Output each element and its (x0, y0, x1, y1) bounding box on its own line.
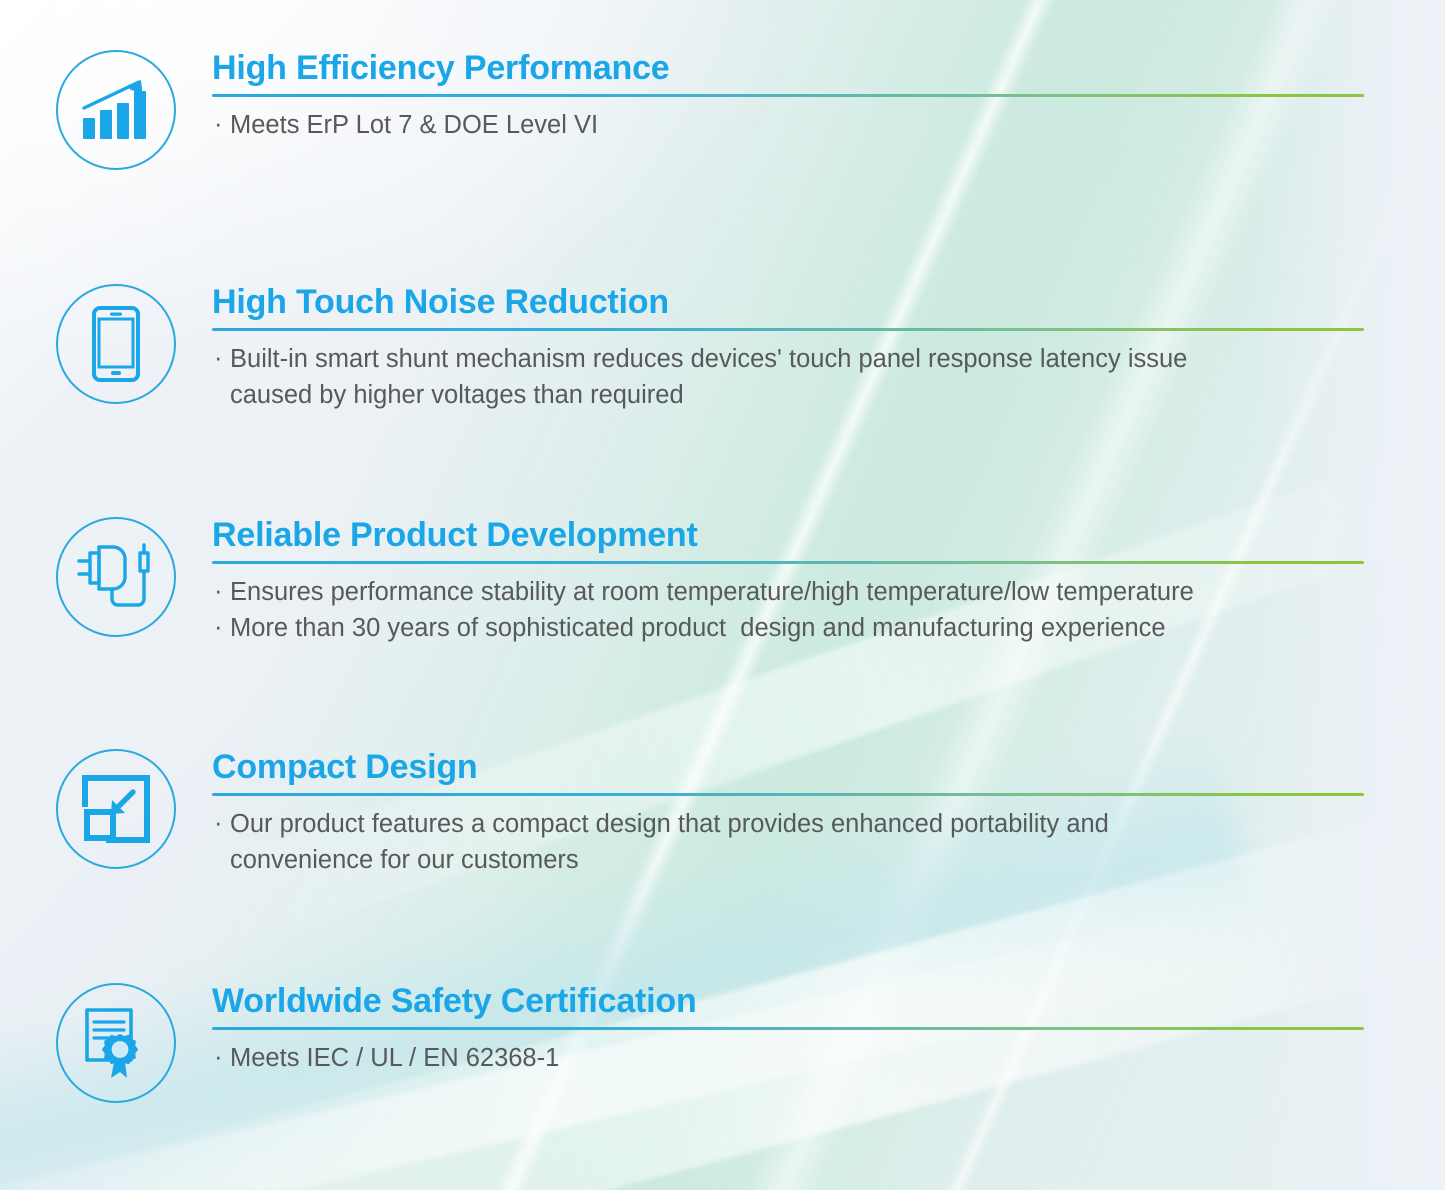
feature-text-block: High Efficiency Performance Meets ErP Lo… (212, 50, 1367, 144)
feature-text-block: Compact Design Our product features a co… (212, 749, 1367, 878)
feature-bullet: Meets IEC / UL / EN 62368-1 (212, 1041, 1367, 1077)
bar-chart-growth-icon (56, 50, 176, 170)
feature-title: High Efficiency Performance (212, 50, 1367, 86)
feature-icon-wrap (54, 284, 178, 404)
feature-divider (212, 1027, 1364, 1030)
feature-item-reliable-product-development: Reliable Product Development Ensures per… (0, 517, 1367, 646)
feature-icon-wrap (54, 749, 178, 869)
feature-title: Worldwide Safety Certification (212, 983, 1367, 1019)
feature-title: Reliable Product Development (212, 517, 1367, 553)
feature-bullet: More than 30 years of sophisticated prod… (212, 611, 1367, 647)
feature-divider (212, 793, 1364, 796)
feature-highlights-page: High Efficiency Performance Meets ErP Lo… (0, 0, 1445, 1190)
feature-bullet: Ensures performance stability at room te… (212, 575, 1367, 611)
feature-icon-wrap (54, 50, 178, 170)
compact-resize-icon (56, 749, 176, 869)
feature-bullet: Meets ErP Lot 7 & DOE Level VI (212, 108, 1367, 144)
feature-divider (212, 94, 1364, 97)
feature-item-worldwide-safety-certification: Worldwide Safety Certification Meets IEC… (0, 983, 1367, 1103)
feature-bullets: Built-in smart shunt mechanism reduces d… (212, 342, 1367, 413)
feature-divider (212, 328, 1364, 331)
feature-item-high-efficiency-performance: High Efficiency Performance Meets ErP Lo… (0, 50, 1367, 170)
feature-item-high-touch-noise-reduction: High Touch Noise Reduction Built-in smar… (0, 284, 1367, 413)
feature-bullet: Our product features a compact design th… (212, 807, 1367, 878)
certificate-seal-icon (56, 983, 176, 1103)
feature-title: Compact Design (212, 749, 1367, 785)
feature-bullets: Our product features a compact design th… (212, 807, 1367, 878)
feature-bullet: Built-in smart shunt mechanism reduces d… (212, 342, 1367, 413)
feature-divider (212, 561, 1364, 564)
light-streak (146, 398, 1445, 971)
power-adapter-icon (56, 517, 176, 637)
feature-text-block: Worldwide Safety Certification Meets IEC… (212, 983, 1367, 1077)
feature-text-block: Reliable Product Development Ensures per… (212, 517, 1367, 646)
feature-title: High Touch Noise Reduction (212, 284, 1367, 320)
feature-bullets: Meets ErP Lot 7 & DOE Level VI (212, 108, 1367, 144)
feature-icon-wrap (54, 517, 178, 637)
feature-text-block: High Touch Noise Reduction Built-in smar… (212, 284, 1367, 413)
smartphone-icon (56, 284, 176, 404)
feature-icon-wrap (54, 983, 178, 1103)
feature-bullets: Ensures performance stability at room te… (212, 575, 1367, 646)
feature-bullets: Meets IEC / UL / EN 62368-1 (212, 1041, 1367, 1077)
feature-item-compact-design: Compact Design Our product features a co… (0, 749, 1367, 878)
